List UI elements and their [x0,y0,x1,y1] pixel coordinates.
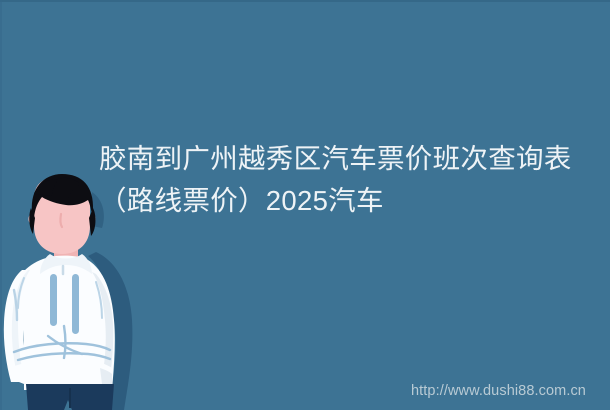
poster-image: 胶南到广州越秀区汽车票价班次查询表（路线票价）2025汽车 http://www… [0,0,610,410]
pants [26,384,114,410]
page-title: 胶南到广州越秀区汽车票价班次查询表（路线票价）2025汽车 [99,138,599,222]
watermark-url: http://www.dushi88.com.cn [411,383,586,399]
hoodie-hem [14,359,112,384]
top-edge-line [0,0,610,2]
